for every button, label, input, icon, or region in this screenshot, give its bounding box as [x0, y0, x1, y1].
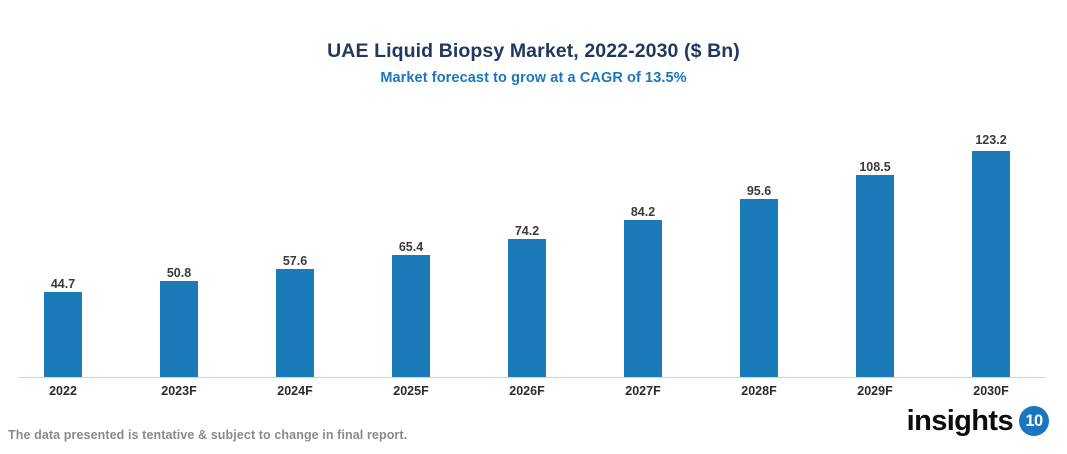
disclaimer-text: The data presented is tentative & subjec…: [8, 428, 407, 442]
bar-group: 95.6 2028F: [701, 0, 817, 454]
bar-group: 74.2 2026F: [469, 0, 585, 454]
bar-value-label: 95.6: [701, 184, 817, 199]
category-label: 2027F: [585, 383, 701, 399]
bar-2029F[interactable]: [856, 175, 894, 377]
bar-group: 57.6 2024F: [237, 0, 353, 454]
category-label: 2025F: [353, 383, 469, 399]
bar-2026F[interactable]: [508, 239, 546, 377]
bar-value-label: 44.7: [5, 277, 121, 292]
bar-value-label: 57.6: [237, 254, 353, 269]
bar-value-label: 84.2: [585, 205, 701, 220]
brand-badge-icon: 10: [1019, 406, 1049, 436]
bar-2030F[interactable]: [972, 151, 1010, 377]
bar-chart-plot: 44.7 2022 50.8 2023F 57.6 2024F 65.4 202…: [0, 0, 1067, 454]
bar-2028F[interactable]: [740, 199, 778, 377]
category-label: 2024F: [237, 383, 353, 399]
bar-group: 65.4 2025F: [353, 0, 469, 454]
category-label: 2022: [5, 383, 121, 399]
category-label: 2028F: [701, 383, 817, 399]
category-label: 2026F: [469, 383, 585, 399]
bar-2027F[interactable]: [624, 220, 662, 377]
bar-group: 123.2 2030F: [933, 0, 1049, 454]
bar-2022[interactable]: [44, 292, 82, 377]
category-label: 2030F: [933, 383, 1049, 399]
bar-value-label: 74.2: [469, 224, 585, 239]
bar-value-label: 123.2: [933, 133, 1049, 148]
bar-value-label: 50.8: [121, 266, 237, 281]
bar-group: 108.5 2029F: [817, 0, 933, 454]
bar-value-label: 108.5: [817, 160, 933, 175]
bar-2025F[interactable]: [392, 255, 430, 377]
category-label: 2023F: [121, 383, 237, 399]
chart-page: UAE Liquid Biopsy Market, 2022-2030 ($ B…: [0, 0, 1067, 454]
bar-group: 44.7 2022: [5, 0, 121, 454]
category-label: 2029F: [817, 383, 933, 399]
brand-wordmark: insights: [907, 406, 1013, 436]
bar-value-label: 65.4: [353, 240, 469, 255]
bar-group: 50.8 2023F: [121, 0, 237, 454]
bar-group: 84.2 2027F: [585, 0, 701, 454]
bar-2024F[interactable]: [276, 269, 314, 377]
insights10-logo: insights 10: [907, 406, 1049, 436]
bar-2023F[interactable]: [160, 281, 198, 377]
